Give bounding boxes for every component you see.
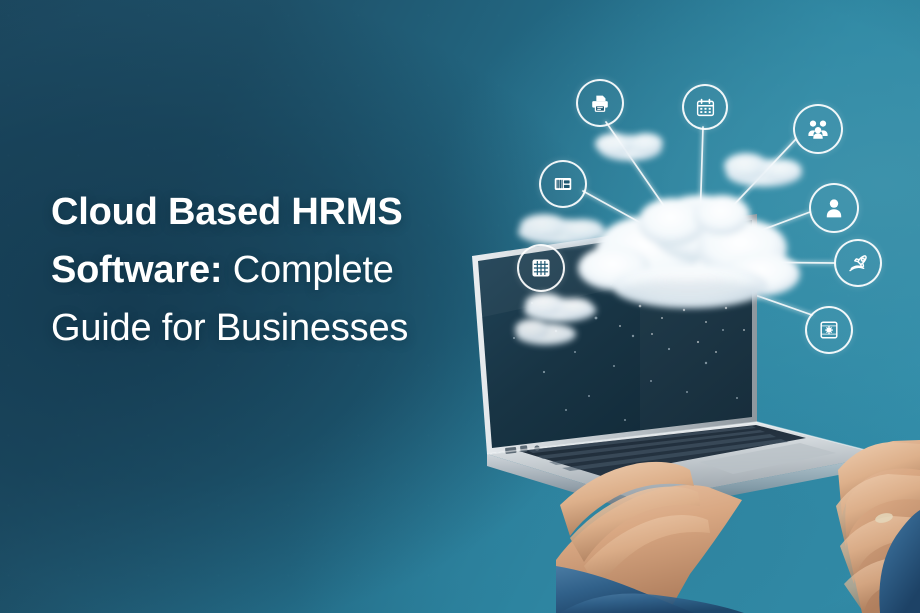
hand-right: [836, 440, 920, 613]
headline-line-2: Software: Complete: [51, 241, 471, 299]
rocket-launch-icon: [847, 252, 870, 275]
page-title: Cloud Based HRMS Software: Complete Guid…: [51, 183, 471, 357]
cloud-small-upper-right: [724, 153, 802, 187]
calendar-icon: [695, 97, 716, 118]
node-server[interactable]: [539, 160, 587, 208]
hero-banner: Cloud Based HRMS Software: Complete Guid…: [0, 0, 920, 613]
cloud-main-shadow: [618, 279, 762, 305]
printer-icon: [589, 92, 611, 114]
document-gear-icon: [818, 319, 840, 341]
node-launch[interactable]: [834, 239, 882, 287]
node-team[interactable]: [793, 104, 843, 154]
user-group-icon: [806, 117, 830, 141]
headline-line-1: Cloud Based HRMS: [51, 183, 471, 241]
server-rack-icon: [552, 173, 574, 195]
headline-line-3: Guide for Businesses: [51, 299, 471, 357]
node-employee[interactable]: [809, 183, 859, 233]
node-settings[interactable]: [805, 306, 853, 354]
cloud-small-upper-left: [595, 133, 663, 161]
headline-line-2-rest: Complete: [222, 249, 393, 291]
grid-table-icon: [530, 257, 552, 279]
node-spreadsheet[interactable]: [517, 244, 565, 292]
node-printer[interactable]: [576, 79, 624, 127]
headline-line-2-strong: Software:: [51, 249, 222, 291]
node-calendar[interactable]: [682, 84, 728, 130]
user-icon: [822, 196, 846, 220]
cloud-wisp-left: [518, 214, 606, 245]
